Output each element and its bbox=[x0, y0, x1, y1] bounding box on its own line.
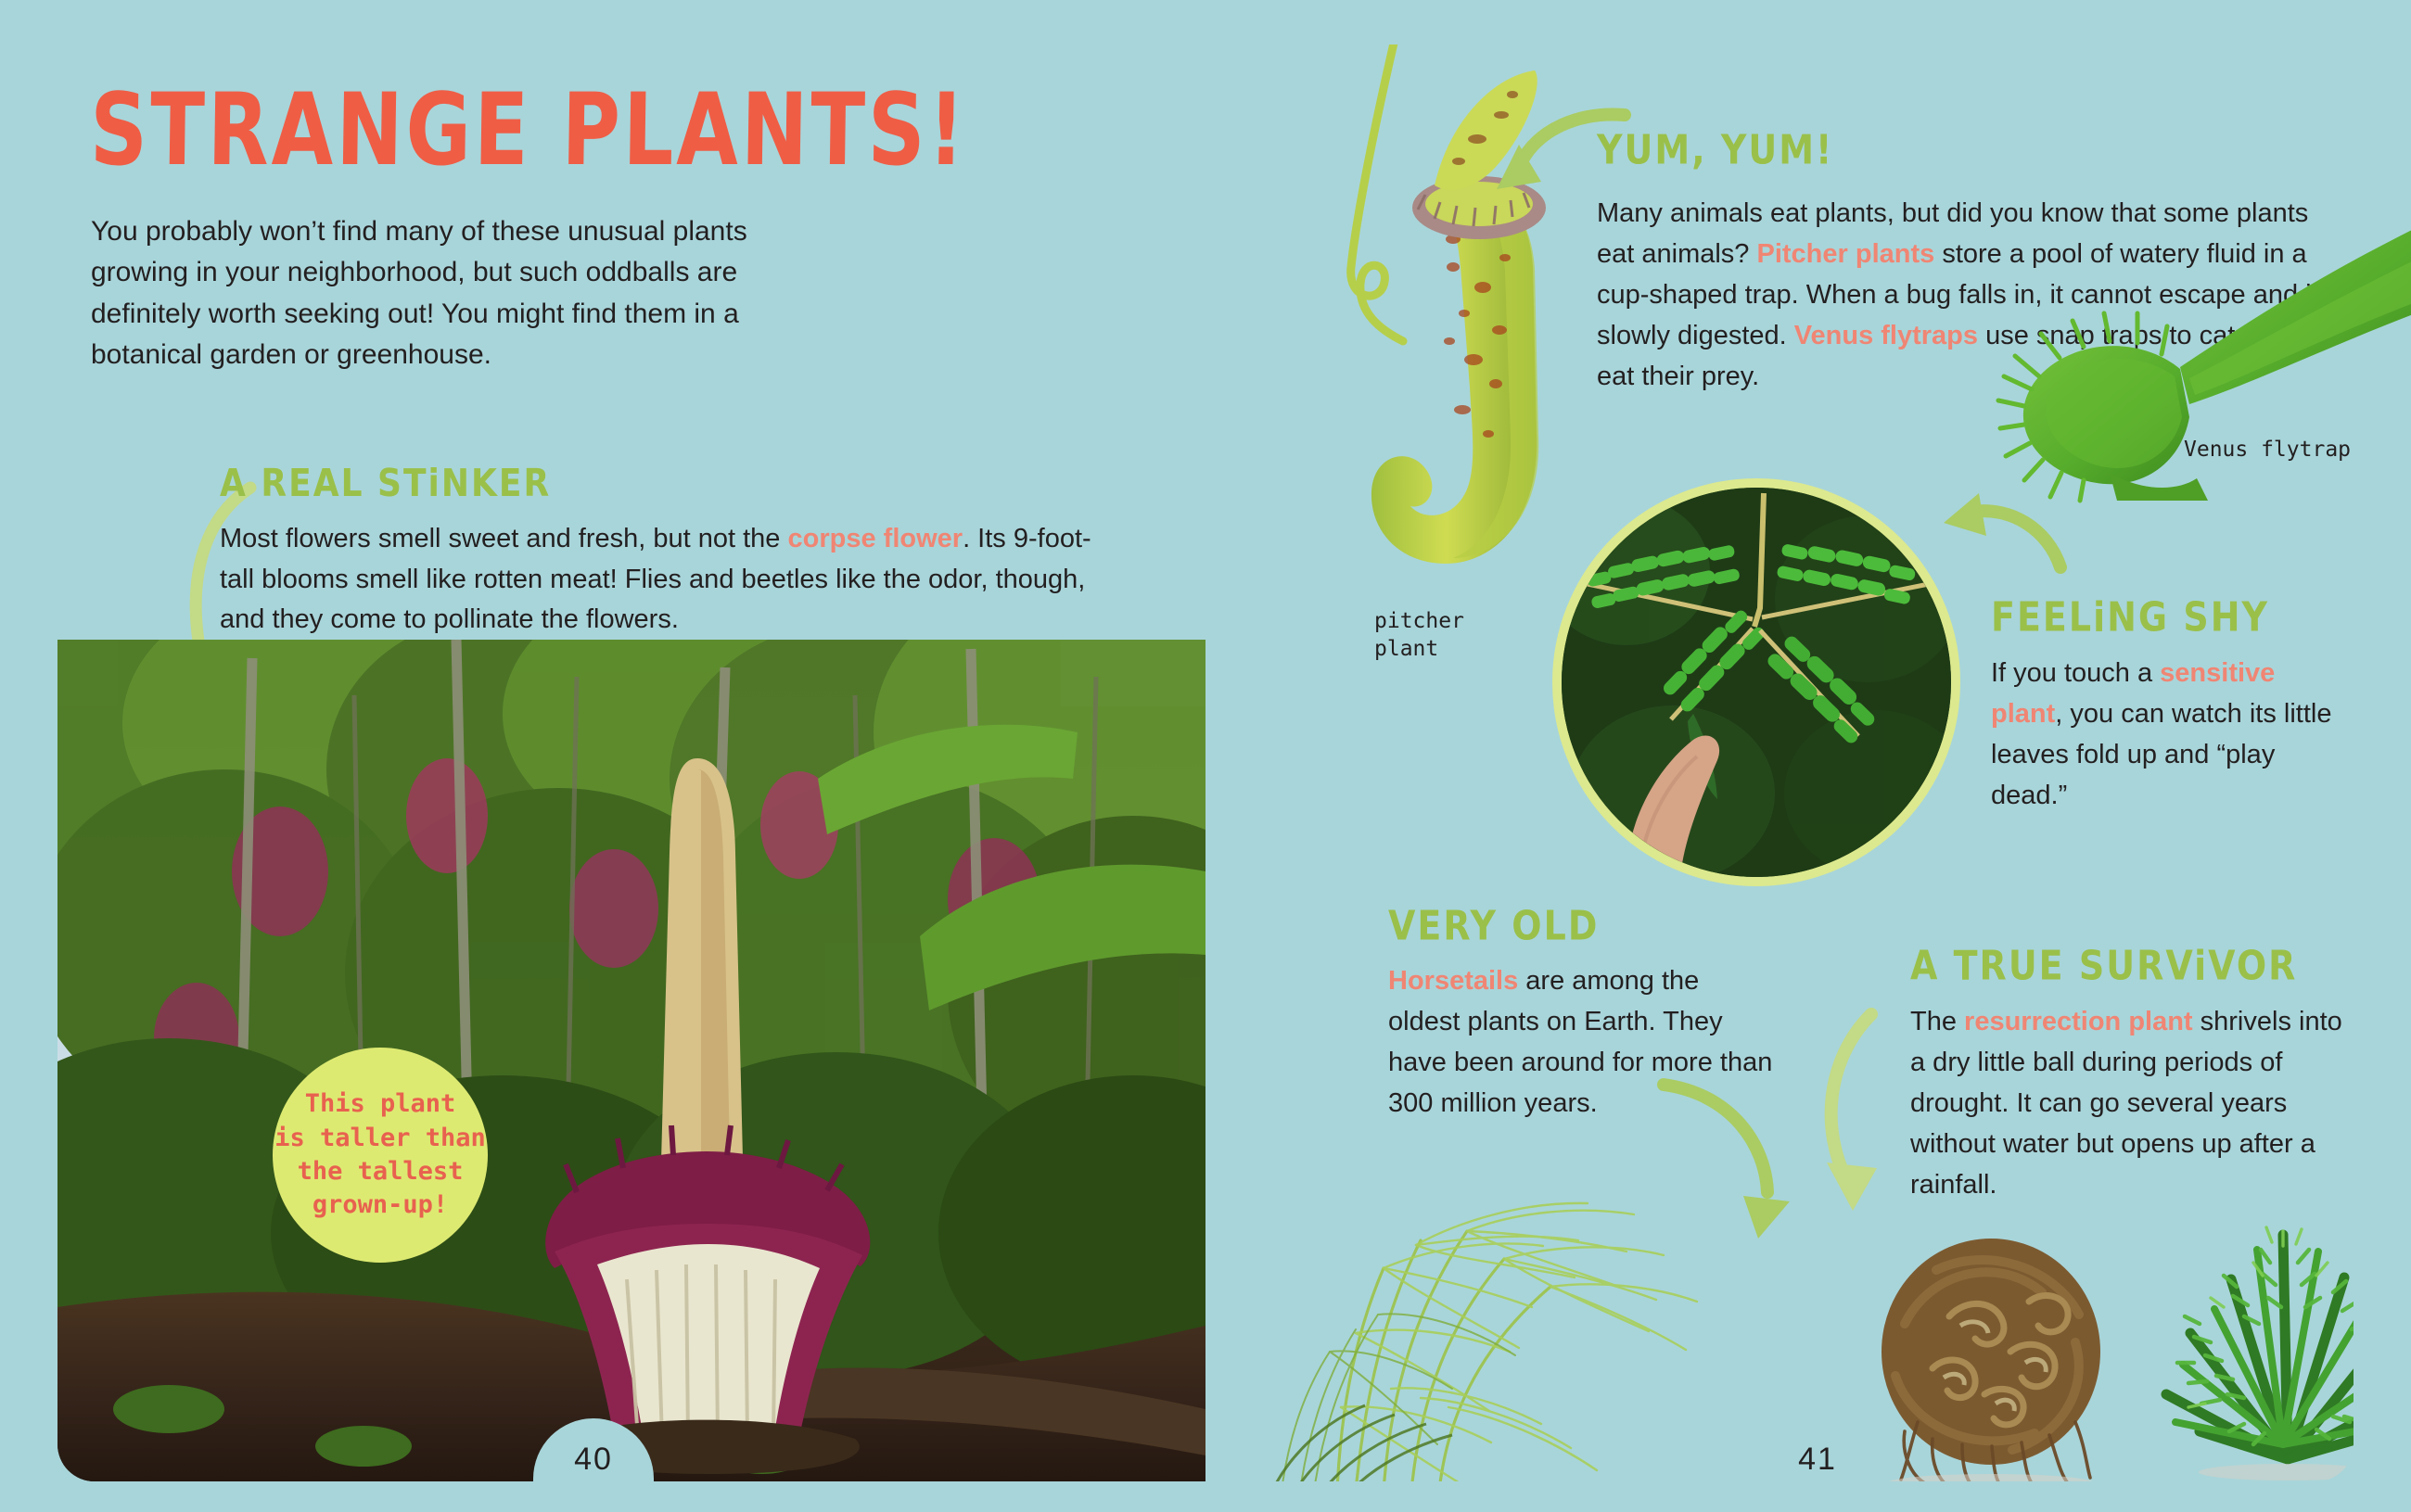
page-number-left: 40 bbox=[574, 1442, 613, 1478]
caption-venus-flytrap: Venus flytrap bbox=[2184, 438, 2351, 462]
sensitive-plant-leaves bbox=[1562, 488, 1951, 877]
photo-sensitive-plant bbox=[1552, 478, 1960, 886]
callout-bubble-text: This plantis taller thanthe tallestgrown… bbox=[274, 1087, 486, 1223]
caption-pitcher-plant: pitcherplant bbox=[1374, 608, 1464, 664]
shy-text-1: If you touch a bbox=[1991, 658, 2160, 688]
section-heading-a-true-survivor: A TRUE SURViVOR bbox=[1910, 942, 2297, 989]
callout-bubble-this-plant: This plantis taller thanthe tallestgrown… bbox=[273, 1048, 488, 1263]
arrow-curve-icon bbox=[1931, 491, 2070, 593]
term-pitcher-plants: Pitcher plants bbox=[1757, 239, 1935, 269]
intro-paragraph: You probably won’t find many of these un… bbox=[91, 211, 851, 376]
term-venus-flytraps: Venus flytraps bbox=[1794, 321, 1978, 350]
section-heading-yum-yum: YUM, YUM! bbox=[1597, 126, 1833, 173]
section-body-a-real-stinker: Most flowers smell sweet and fresh, but … bbox=[220, 519, 1101, 641]
term-resurrection-plant: resurrection plant bbox=[1964, 1007, 2193, 1036]
stinker-text-1: Most flowers smell sweet and fresh, but … bbox=[220, 524, 788, 553]
arrow-curve-icon bbox=[1819, 1009, 1949, 1231]
page-title: STRANGE PLANTS! bbox=[89, 72, 968, 188]
term-horsetails: Horsetails bbox=[1388, 966, 1518, 996]
resurrection-plant-dry-illustration bbox=[1847, 1213, 2135, 1481]
rainforest-canopy bbox=[57, 640, 1205, 1481]
term-corpse-flower: corpse flower bbox=[788, 524, 963, 553]
section-heading-feeling-shy: FEELiNG SHY bbox=[1991, 593, 2269, 641]
resurrection-plant-open-illustration bbox=[2135, 1194, 2354, 1481]
section-body-feeling-shy: If you touch a sensitive plant, you can … bbox=[1991, 653, 2343, 816]
section-heading-very-old: VERY OLD bbox=[1388, 902, 1599, 949]
section-heading-a-real-stinker: A REAL STiNKER bbox=[220, 462, 551, 505]
page-number-right: 41 bbox=[1798, 1442, 1837, 1478]
photo-corpse-flower bbox=[57, 640, 1205, 1481]
section-body-a-true-survivor: The resurrection plant shrivels into a d… bbox=[1910, 1001, 2346, 1205]
arrow-curve-icon bbox=[1652, 1075, 1801, 1261]
